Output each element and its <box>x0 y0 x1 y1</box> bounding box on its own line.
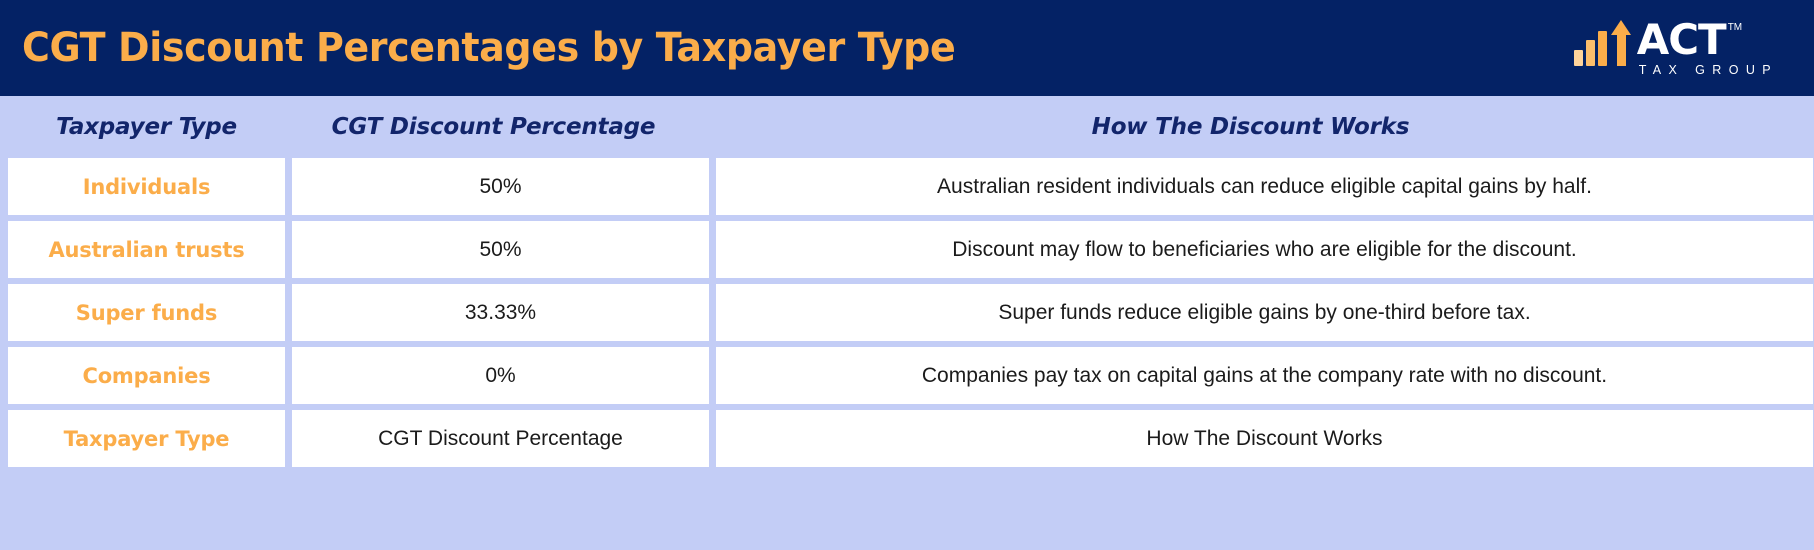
cell-discount-percentage: 50% <box>292 158 709 215</box>
column-header-discount-percentage: CGT Discount Percentage <box>285 114 702 140</box>
cell-taxpayer-type: Taxpayer Type <box>8 410 285 467</box>
infographic-table: CGT Discount Percentages by Taxpayer Typ… <box>0 0 1814 550</box>
act-tax-group-logo: ACT TM TAX GROUP <box>1574 20 1790 77</box>
column-header-taxpayer-type: Taxpayer Type <box>8 114 285 140</box>
bar-chart-arrow-up-icon <box>1574 20 1631 68</box>
table-row: Companies 0% Companies pay tax on capita… <box>8 347 1806 404</box>
cell-taxpayer-type: Australian trusts <box>8 221 285 278</box>
column-header-how-it-works: How The Discount Works <box>702 114 1799 140</box>
chart-bar-1 <box>1574 50 1583 66</box>
logo-brand-row: ACT TM <box>1637 20 1778 60</box>
table-row: Australian trusts 50% Discount may flow … <box>8 221 1806 278</box>
cell-how-it-works: How The Discount Works <box>716 410 1813 467</box>
cell-taxpayer-type: Individuals <box>8 158 285 215</box>
arrow-up-shaft <box>1617 33 1626 66</box>
logo-tagline: TAX GROUP <box>1639 63 1778 77</box>
table-row: Taxpayer Type CGT Discount Percentage Ho… <box>8 410 1806 467</box>
chart-bar-2 <box>1586 40 1595 66</box>
table-row: Individuals 50% Australian resident indi… <box>8 158 1806 215</box>
arrow-up-icon <box>1611 20 1631 66</box>
cell-taxpayer-type: Super funds <box>8 284 285 341</box>
table-row: Super funds 33.33% Super funds reduce el… <box>8 284 1806 341</box>
cell-discount-percentage: 0% <box>292 347 709 404</box>
cell-how-it-works: Companies pay tax on capital gains at th… <box>716 347 1813 404</box>
trademark-symbol: TM <box>1728 22 1742 34</box>
header-bar: CGT Discount Percentages by Taxpayer Typ… <box>0 0 1814 96</box>
cell-discount-percentage: 33.33% <box>292 284 709 341</box>
logo-brand-text: ACT <box>1637 20 1726 60</box>
cell-discount-percentage: 50% <box>292 221 709 278</box>
cell-how-it-works: Discount may flow to beneficiaries who a… <box>716 221 1813 278</box>
cell-how-it-works: Super funds reduce eligible gains by one… <box>716 284 1813 341</box>
logo-wordmark: ACT TM TAX GROUP <box>1637 20 1778 77</box>
cell-how-it-works: Australian resident individuals can redu… <box>716 158 1813 215</box>
page-title: CGT Discount Percentages by Taxpayer Typ… <box>22 25 955 71</box>
chart-bar-3 <box>1598 31 1607 66</box>
table-header-row: Taxpayer Type CGT Discount Percentage Ho… <box>8 96 1806 158</box>
cell-discount-percentage: CGT Discount Percentage <box>292 410 709 467</box>
cell-taxpayer-type: Companies <box>8 347 285 404</box>
comparison-table: Taxpayer Type CGT Discount Percentage Ho… <box>0 96 1814 467</box>
